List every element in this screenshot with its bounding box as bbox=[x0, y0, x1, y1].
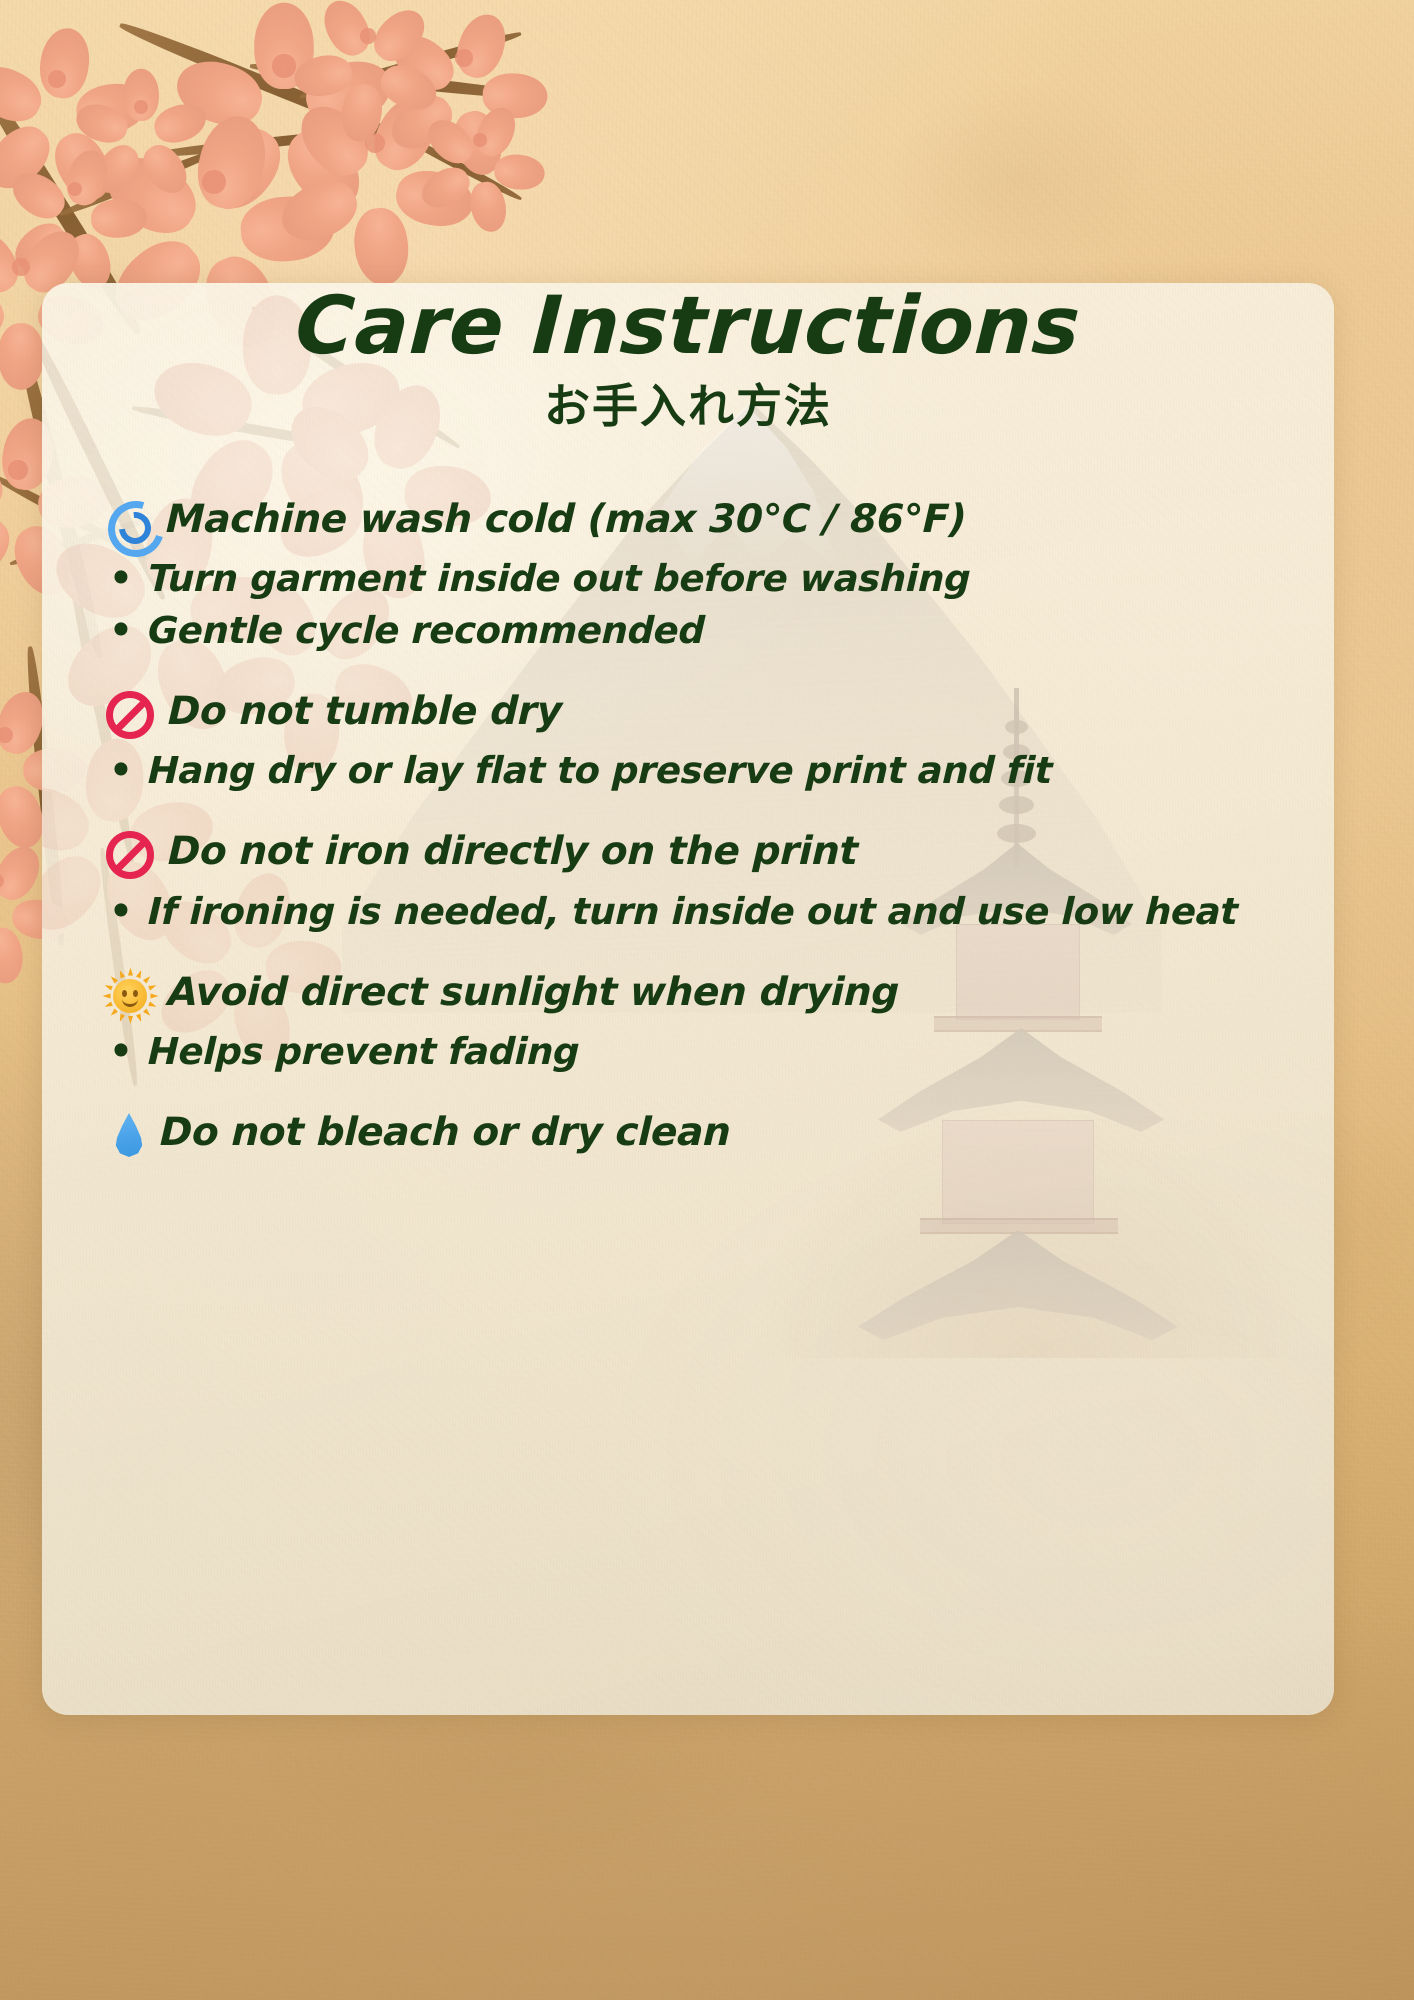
instruction-row: Avoid direct sunlight when drying bbox=[106, 966, 1276, 1021]
page-subtitle: お手入れ方法 bbox=[100, 379, 1276, 434]
instruction-row: Do not iron directly on the print bbox=[106, 825, 1276, 880]
instruction-sub-text: Turn garment inside out before washing bbox=[147, 553, 971, 605]
instruction-main-text: Do not tumble dry bbox=[167, 685, 563, 740]
instruction-group: Do not tumble dry • Hang dry or lay flat… bbox=[106, 685, 1276, 797]
cyclone-icon bbox=[106, 499, 152, 545]
instruction-sub-text: Hang dry or lay flat to preserve print a… bbox=[147, 745, 1053, 797]
instruction-group: Machine wash cold (max 30°C / 86°F) • Tu… bbox=[106, 493, 1276, 657]
care-instructions-poster: Care Instructions お手入れ方法 Machine wash co… bbox=[0, 0, 1414, 2000]
droplet-icon bbox=[112, 1112, 146, 1158]
sun-with-face-icon bbox=[106, 972, 154, 1020]
instruction-subrow: • Hang dry or lay flat to preserve print… bbox=[108, 745, 1276, 797]
instructions-list: Machine wash cold (max 30°C / 86°F) • Tu… bbox=[100, 493, 1276, 1161]
prohibited-icon bbox=[106, 691, 154, 739]
instruction-sub-text: If ironing is needed, turn inside out an… bbox=[147, 886, 1238, 938]
instruction-card: Care Instructions お手入れ方法 Machine wash co… bbox=[42, 283, 1334, 1715]
instruction-sub-text: Helps prevent fading bbox=[147, 1026, 580, 1078]
instruction-subrow: • Turn garment inside out before washing bbox=[108, 553, 1276, 605]
prohibited-icon bbox=[106, 831, 154, 879]
instruction-subrow: • If ironing is needed, turn inside out … bbox=[108, 886, 1276, 938]
instruction-main-text: Machine wash cold (max 30°C / 86°F) bbox=[165, 493, 967, 548]
instruction-sub-text: Gentle cycle recommended bbox=[147, 605, 705, 657]
card-content: Care Instructions お手入れ方法 Machine wash co… bbox=[42, 283, 1334, 1715]
bullet-marker: • bbox=[108, 1026, 134, 1078]
bullet-marker: • bbox=[108, 886, 134, 938]
page-title: Care Instructions bbox=[97, 283, 1278, 377]
instruction-subrow: • Gentle cycle recommended bbox=[108, 605, 1276, 657]
instruction-row: Do not bleach or dry clean bbox=[106, 1106, 1276, 1161]
instruction-row: Machine wash cold (max 30°C / 86°F) bbox=[106, 493, 1276, 548]
instruction-main-text: Do not iron directly on the print bbox=[167, 825, 859, 880]
instruction-main-text: Avoid direct sunlight when drying bbox=[167, 966, 900, 1021]
bullet-marker: • bbox=[108, 605, 134, 657]
instruction-main-text: Do not bleach or dry clean bbox=[159, 1106, 731, 1161]
bullet-marker: • bbox=[108, 745, 134, 797]
instruction-group: Do not iron directly on the print • If i… bbox=[106, 825, 1276, 937]
instruction-group: Do not bleach or dry clean bbox=[106, 1106, 1276, 1161]
instruction-group: Avoid direct sunlight when drying • Help… bbox=[106, 966, 1276, 1078]
instruction-row: Do not tumble dry bbox=[106, 685, 1276, 740]
bullet-marker: • bbox=[108, 553, 134, 605]
instruction-subrow: • Helps prevent fading bbox=[108, 1026, 1276, 1078]
